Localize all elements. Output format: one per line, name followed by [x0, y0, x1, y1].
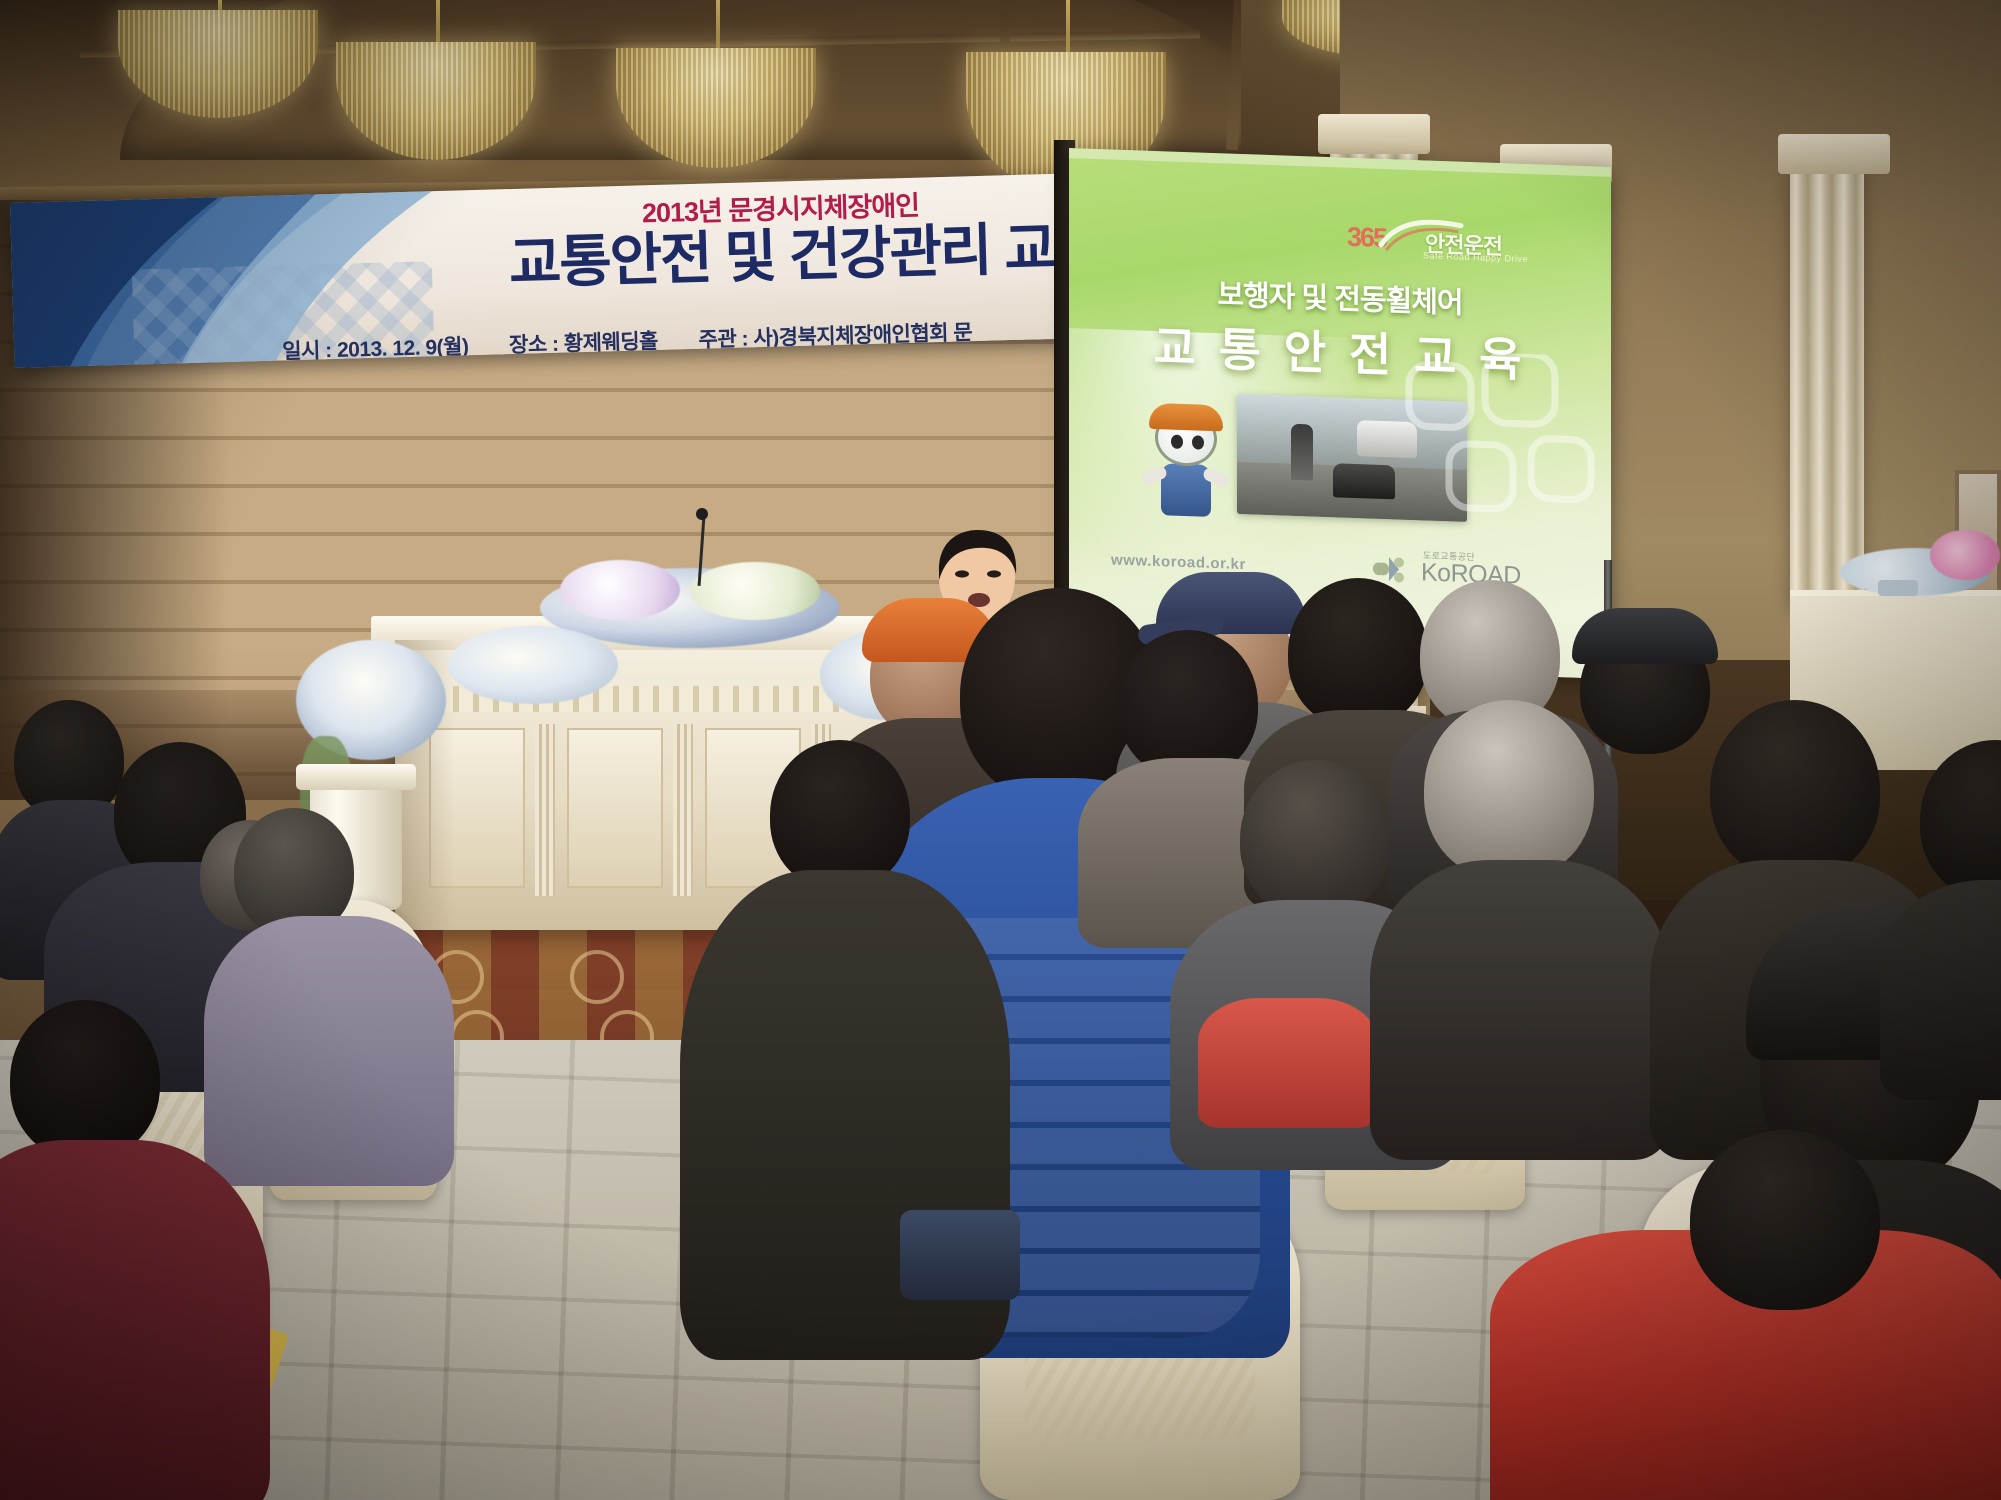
attendee-head: [770, 740, 910, 890]
attendee-head: [1240, 760, 1390, 918]
attendee-body: [0, 1140, 270, 1500]
attendee: [1380, 700, 1640, 1120]
podium-panel: [567, 728, 663, 888]
slide-logo-365: 365 안전운전 Safe Road Happy Drive: [1347, 216, 1547, 267]
attendee-hat: [1572, 608, 1718, 664]
podium-column: [673, 724, 693, 896]
attendee-head: [10, 1000, 160, 1160]
slide-decorative-pattern: [1399, 350, 1609, 557]
speaker-eye-right: [987, 570, 1001, 577]
mascot-cap: [1149, 403, 1223, 432]
banner-main-title: 교통안전 및 건강관리 교: [481, 220, 1082, 294]
slide-logo-english: Safe Road Happy Drive: [1423, 250, 1528, 264]
chandelier-stem: [716, 0, 720, 54]
chandelier-stem: [1066, 0, 1070, 58]
column-capital: [1778, 134, 1890, 174]
slide-mascot: [1137, 408, 1233, 531]
event-banner: 2013년 문경시지체장애인 교통안전 및 건강관리 교 일시 : 2013. …: [10, 173, 1089, 368]
mascot-eye-right: [1192, 435, 1204, 449]
photo-scene: 2013년 문경시지체장애인 교통안전 및 건강관리 교 일시 : 2013. …: [0, 0, 2001, 1500]
flower-arrangement: [690, 562, 820, 620]
attendee-bag: [900, 1210, 1020, 1300]
attendee-body: [1370, 860, 1670, 1160]
podium-column: [535, 724, 555, 896]
vase-rim: [296, 764, 416, 790]
attendee: [1490, 1170, 2001, 1500]
flower-arrangement: [448, 626, 618, 704]
attendee-head: [1424, 700, 1594, 880]
attendee-head: [1710, 700, 1880, 880]
decorative-column: [1790, 170, 1864, 610]
table-microphone-head: [696, 508, 708, 520]
attendee: [1900, 740, 2001, 1060]
slide-photo-pedestrian: [1291, 424, 1313, 481]
speaker-eye-left: [955, 570, 969, 577]
column-capital: [1318, 114, 1430, 154]
carpet-motif: [570, 950, 624, 1004]
flower-arrangement: [560, 560, 680, 620]
mascot-eye-left: [1171, 435, 1183, 449]
side-flowers: [1930, 530, 2000, 580]
slide-photo-car-dark: [1333, 463, 1395, 499]
attendee-head: [1920, 740, 2001, 900]
attendee-head: [1690, 1130, 1880, 1310]
attendee: [0, 1000, 270, 1500]
banner-title-block: 2013년 문경시지체장애인 교통안전 및 건강관리 교: [480, 179, 1083, 294]
side-table-item: [1878, 580, 1918, 596]
attendee-red-scarf: [1198, 998, 1378, 1128]
attendee-head: [1118, 630, 1258, 778]
